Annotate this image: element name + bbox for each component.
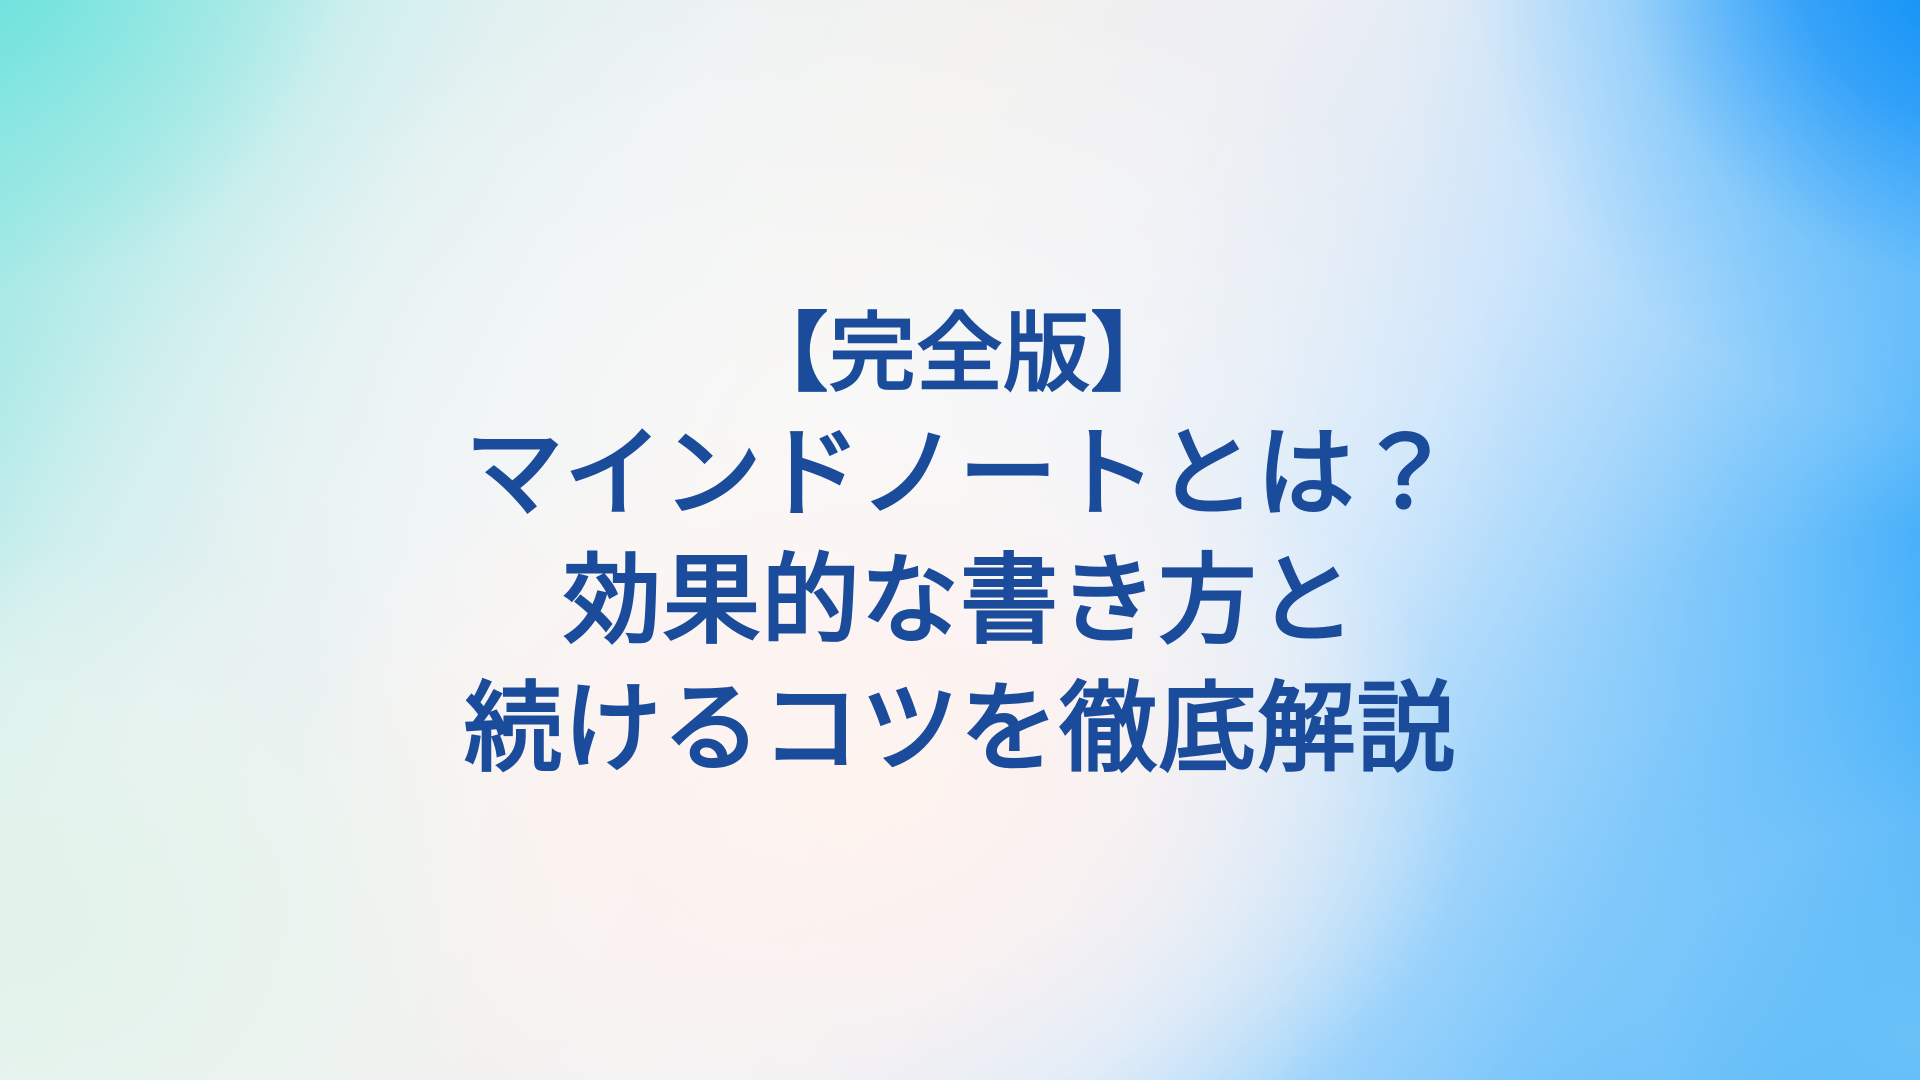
page-title: 【完全版】 マインドノートとは？ 効果的な書き方と 続けるコツを徹底解説 [0,0,1920,1080]
title-line-3: 効果的な書き方と [563,538,1356,665]
thumbnail-canvas: 【完全版】 マインドノートとは？ 効果的な書き方と 続けるコツを徹底解説 [0,0,1920,1080]
title-line-1: 【完全版】 [742,299,1177,411]
title-line-4: 続けるコツを徹底解説 [464,666,1456,793]
title-line-2: マインドノートとは？ [465,411,1455,538]
